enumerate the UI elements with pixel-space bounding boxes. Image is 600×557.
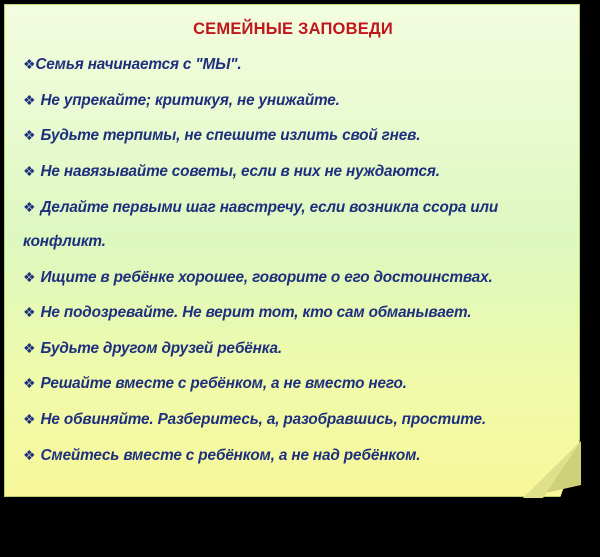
note-card-content: СЕМЕЙНЫЕ ЗАПОВЕДИ ❖Семья начинается с "М… bbox=[9, 9, 577, 494]
diamond-bullet-icon: ❖ bbox=[23, 447, 35, 463]
list-item-text: Смейтесь вместе с ребёнком, а не над реб… bbox=[41, 447, 421, 464]
list-item: ❖Семья начинается с "МЫ". bbox=[23, 47, 563, 83]
list-item: ❖ Будьте терпимы, не спешите излить свой… bbox=[23, 118, 563, 154]
list-item-text: Не навязывайте советы, если в них не нуж… bbox=[41, 163, 440, 180]
slide-backdrop: СЕМЕЙНЫЕ ЗАПОВЕДИ ❖Семья начинается с "М… bbox=[0, 0, 600, 557]
list-item: ❖ Не упрекайте; критикуя, не унижайте. bbox=[23, 83, 563, 119]
list-item-text: Семья начинается с "МЫ". bbox=[35, 56, 241, 73]
diamond-bullet-icon: ❖ bbox=[23, 199, 35, 215]
list-item-text: Не обвиняйте. Разберитесь, а, разобравши… bbox=[41, 411, 486, 428]
list-item-text: Делайте первыми шаг навстречу, если возн… bbox=[23, 199, 498, 251]
list-item: ❖ Не навязывайте советы, если в них не н… bbox=[23, 154, 563, 190]
list-item-text: Ищите в ребёнке хорошее, говорите о его … bbox=[41, 269, 493, 286]
note-card: СЕМЕЙНЫЕ ЗАПОВЕДИ ❖Семья начинается с "М… bbox=[4, 4, 580, 497]
list-item: ❖ Не обвиняйте. Разберитесь, а, разобрав… bbox=[23, 402, 563, 438]
list-item: ❖ Будьте другом друзей ребёнка. bbox=[23, 331, 563, 367]
diamond-bullet-icon: ❖ bbox=[23, 340, 35, 356]
page-title: СЕМЕЙНЫЕ ЗАПОВЕДИ bbox=[23, 20, 563, 38]
list-item: ❖ Ищите в ребёнке хорошее, говорите о ег… bbox=[23, 260, 563, 296]
list-item: ❖ Не подозревайте. Не верит тот, кто сам… bbox=[23, 295, 563, 331]
list-item-text: Будьте другом друзей ребёнка. bbox=[41, 340, 282, 357]
diamond-bullet-icon: ❖ bbox=[23, 127, 35, 143]
list-item-text: Не упрекайте; критикуя, не унижайте. bbox=[41, 92, 340, 109]
list-item-text: Будьте терпимы, не спешите излить свой г… bbox=[41, 127, 421, 144]
diamond-bullet-icon: ❖ bbox=[23, 304, 35, 320]
list-item: ❖ Делайте первыми шаг навстречу, если во… bbox=[23, 190, 563, 260]
diamond-bullet-icon: ❖ bbox=[23, 269, 35, 285]
diamond-bullet-icon: ❖ bbox=[23, 375, 35, 391]
list-item-text: Решайте вместе с ребёнком, а не вместо н… bbox=[41, 375, 407, 392]
diamond-bullet-icon: ❖ bbox=[23, 92, 35, 108]
list-item: ❖ Смейтесь вместе с ребёнком, а не над р… bbox=[23, 438, 563, 474]
list-item: ❖ Решайте вместе с ребёнком, а не вместо… bbox=[23, 366, 563, 402]
diamond-bullet-icon: ❖ bbox=[23, 411, 35, 427]
diamond-bullet-icon: ❖ bbox=[23, 56, 35, 72]
diamond-bullet-icon: ❖ bbox=[23, 163, 35, 179]
commandments-list: ❖Семья начинается с "МЫ". ❖ Не упрекайте… bbox=[23, 47, 563, 473]
list-item-text: Не подозревайте. Не верит тот, кто сам о… bbox=[41, 304, 472, 321]
